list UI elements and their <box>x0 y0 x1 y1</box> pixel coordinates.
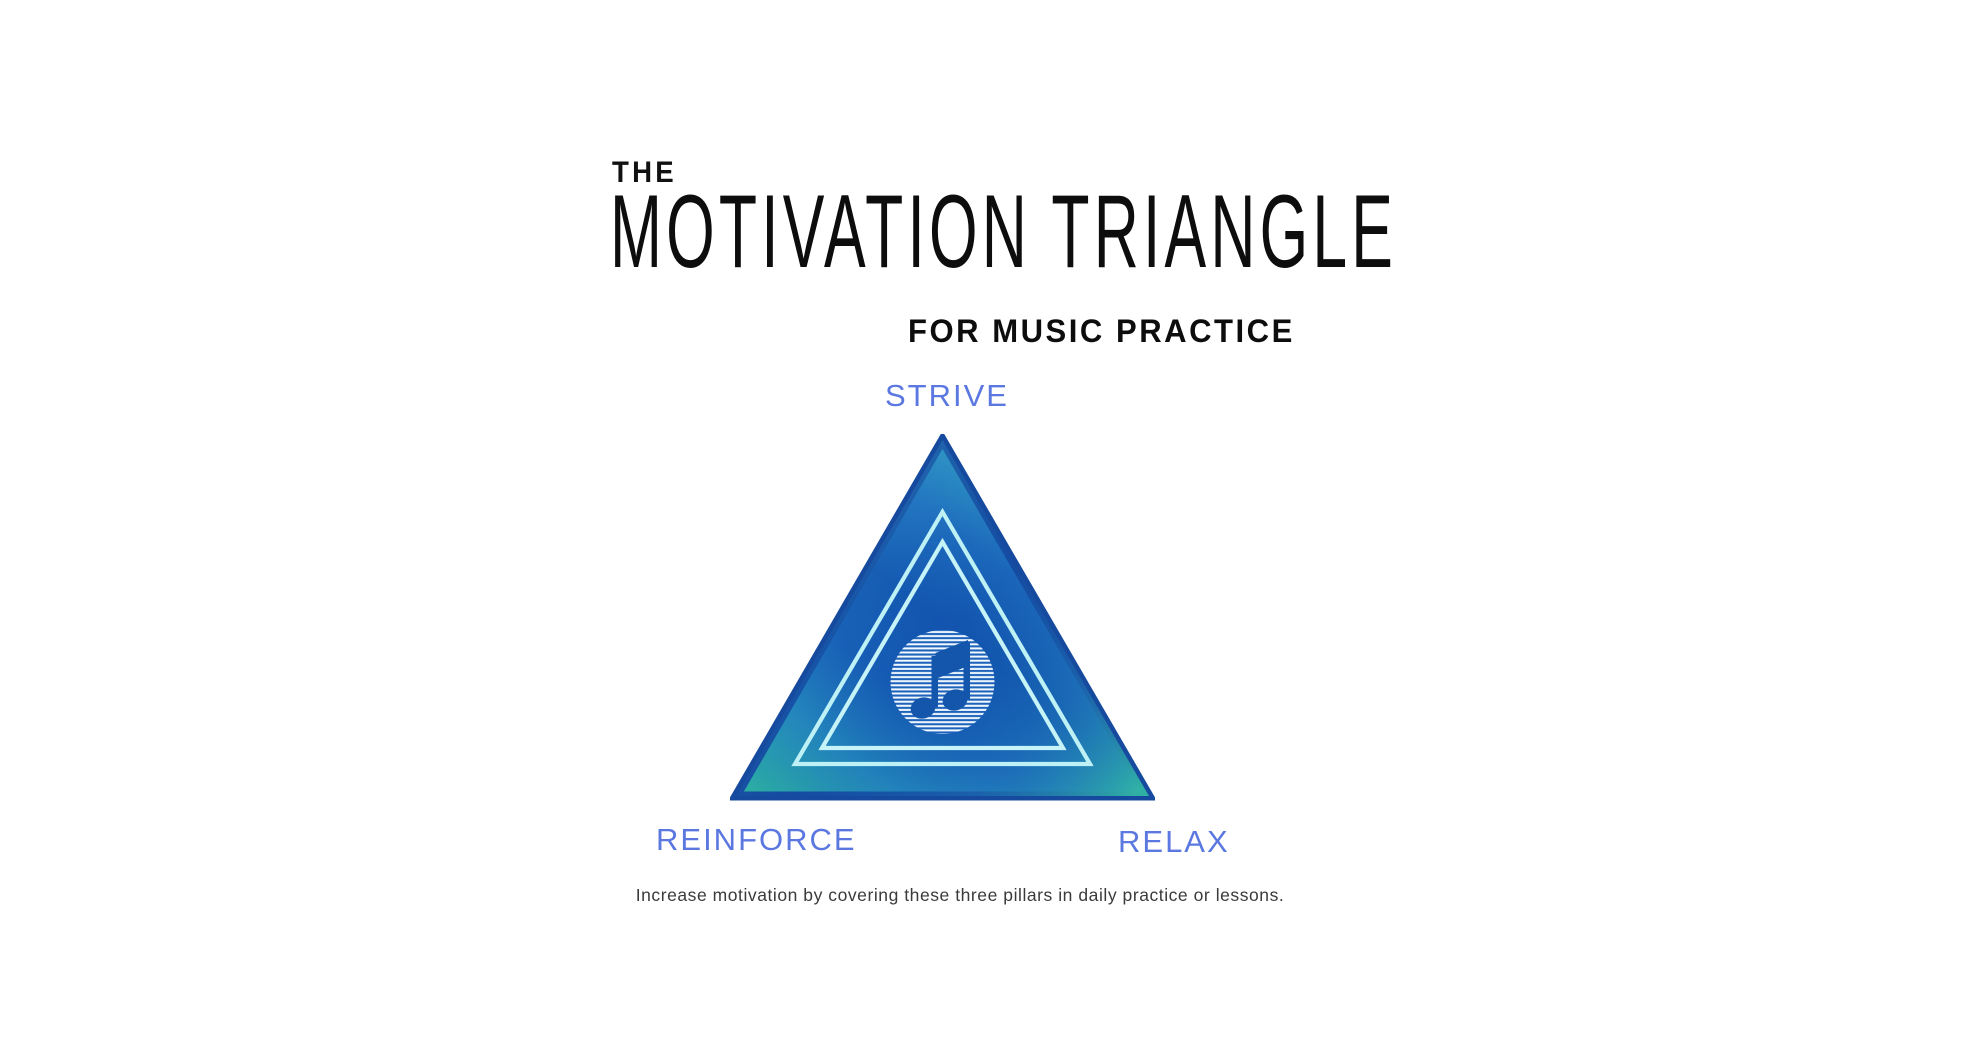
title-subtitle: FOR MUSIC PRACTICE <box>908 315 1295 347</box>
infographic-canvas: THE MOTIVATION TRIANGLE FOR MUSIC PRACTI… <box>0 0 1975 1039</box>
title-block: THE MOTIVATION TRIANGLE FOR MUSIC PRACTI… <box>612 158 1312 348</box>
page-title: MOTIVATION TRIANGLE <box>610 180 1397 284</box>
outer-triangle-glow <box>736 440 1149 796</box>
triangle-graphic <box>730 434 1155 802</box>
vertex-label-reinforce: REINFORCE <box>656 824 857 855</box>
motivation-triangle-diagram: STRIVE <box>620 380 1300 880</box>
vertex-label-relax: RELAX <box>1118 826 1230 857</box>
caption-text: Increase motivation by covering these th… <box>610 884 1310 907</box>
music-note-circle <box>891 630 995 734</box>
vertex-label-strive: STRIVE <box>885 380 1009 411</box>
